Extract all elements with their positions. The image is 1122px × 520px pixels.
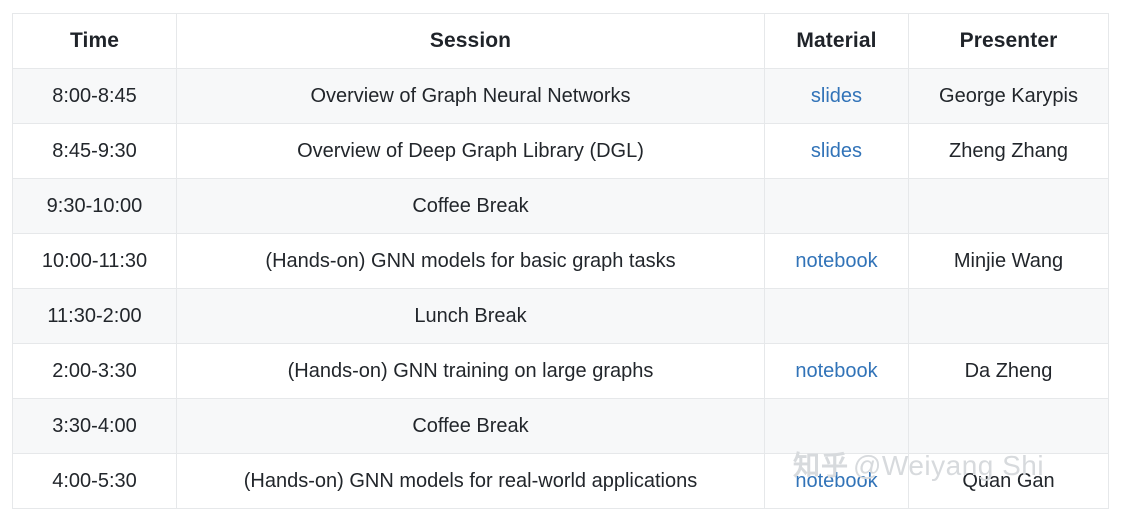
cell-session: Coffee Break xyxy=(177,399,765,454)
cell-time: 4:00-5:30 xyxy=(13,454,177,509)
cell-material[interactable]: notebook xyxy=(765,454,909,509)
schedule-page: Time Session Material Presenter 8:00-8:4… xyxy=(0,0,1122,520)
schedule-table-container: Time Session Material Presenter 8:00-8:4… xyxy=(12,13,1108,509)
schedule-table: Time Session Material Presenter 8:00-8:4… xyxy=(12,13,1109,509)
cell-presenter: Minjie Wang xyxy=(909,234,1109,289)
table-row: 3:30-4:00Coffee Break xyxy=(13,399,1109,454)
table-row: 8:00-8:45Overview of Graph Neural Networ… xyxy=(13,69,1109,124)
column-header-time: Time xyxy=(13,14,177,69)
cell-material xyxy=(765,289,909,344)
column-header-material: Material xyxy=(765,14,909,69)
cell-session: Coffee Break xyxy=(177,179,765,234)
cell-presenter: Zheng Zhang xyxy=(909,124,1109,179)
cell-time: 10:00-11:30 xyxy=(13,234,177,289)
material-link[interactable]: slides xyxy=(811,85,862,107)
cell-session: Overview of Deep Graph Library (DGL) xyxy=(177,124,765,179)
table-header-row: Time Session Material Presenter xyxy=(13,14,1109,69)
table-row: 10:00-11:30(Hands-on) GNN models for bas… xyxy=(13,234,1109,289)
material-link[interactable]: slides xyxy=(811,140,862,162)
material-link[interactable]: notebook xyxy=(795,360,877,382)
cell-presenter: Da Zheng xyxy=(909,344,1109,399)
table-body: 8:00-8:45Overview of Graph Neural Networ… xyxy=(13,69,1109,509)
table-row: 9:30-10:00Coffee Break xyxy=(13,179,1109,234)
cell-session: (Hands-on) GNN models for basic graph ta… xyxy=(177,234,765,289)
cell-session: Lunch Break xyxy=(177,289,765,344)
table-row: 11:30-2:00Lunch Break xyxy=(13,289,1109,344)
cell-time: 9:30-10:00 xyxy=(13,179,177,234)
cell-material[interactable]: slides xyxy=(765,124,909,179)
cell-presenter: George Karypis xyxy=(909,69,1109,124)
table-row: 8:45-9:30Overview of Deep Graph Library … xyxy=(13,124,1109,179)
cell-material[interactable]: slides xyxy=(765,69,909,124)
cell-material[interactable]: notebook xyxy=(765,344,909,399)
cell-material xyxy=(765,399,909,454)
cell-time: 8:00-8:45 xyxy=(13,69,177,124)
table-row: 2:00-3:30(Hands-on) GNN training on larg… xyxy=(13,344,1109,399)
cell-presenter: Quan Gan xyxy=(909,454,1109,509)
cell-presenter xyxy=(909,399,1109,454)
cell-session: (Hands-on) GNN training on large graphs xyxy=(177,344,765,399)
table-header: Time Session Material Presenter xyxy=(13,14,1109,69)
cell-time: 2:00-3:30 xyxy=(13,344,177,399)
table-row: 4:00-5:30(Hands-on) GNN models for real-… xyxy=(13,454,1109,509)
cell-time: 8:45-9:30 xyxy=(13,124,177,179)
cell-material xyxy=(765,179,909,234)
cell-session: (Hands-on) GNN models for real-world app… xyxy=(177,454,765,509)
cell-time: 3:30-4:00 xyxy=(13,399,177,454)
column-header-presenter: Presenter xyxy=(909,14,1109,69)
material-link[interactable]: notebook xyxy=(795,470,877,492)
cell-material[interactable]: notebook xyxy=(765,234,909,289)
cell-time: 11:30-2:00 xyxy=(13,289,177,344)
cell-presenter xyxy=(909,179,1109,234)
cell-presenter xyxy=(909,289,1109,344)
cell-session: Overview of Graph Neural Networks xyxy=(177,69,765,124)
column-header-session: Session xyxy=(177,14,765,69)
material-link[interactable]: notebook xyxy=(795,250,877,272)
